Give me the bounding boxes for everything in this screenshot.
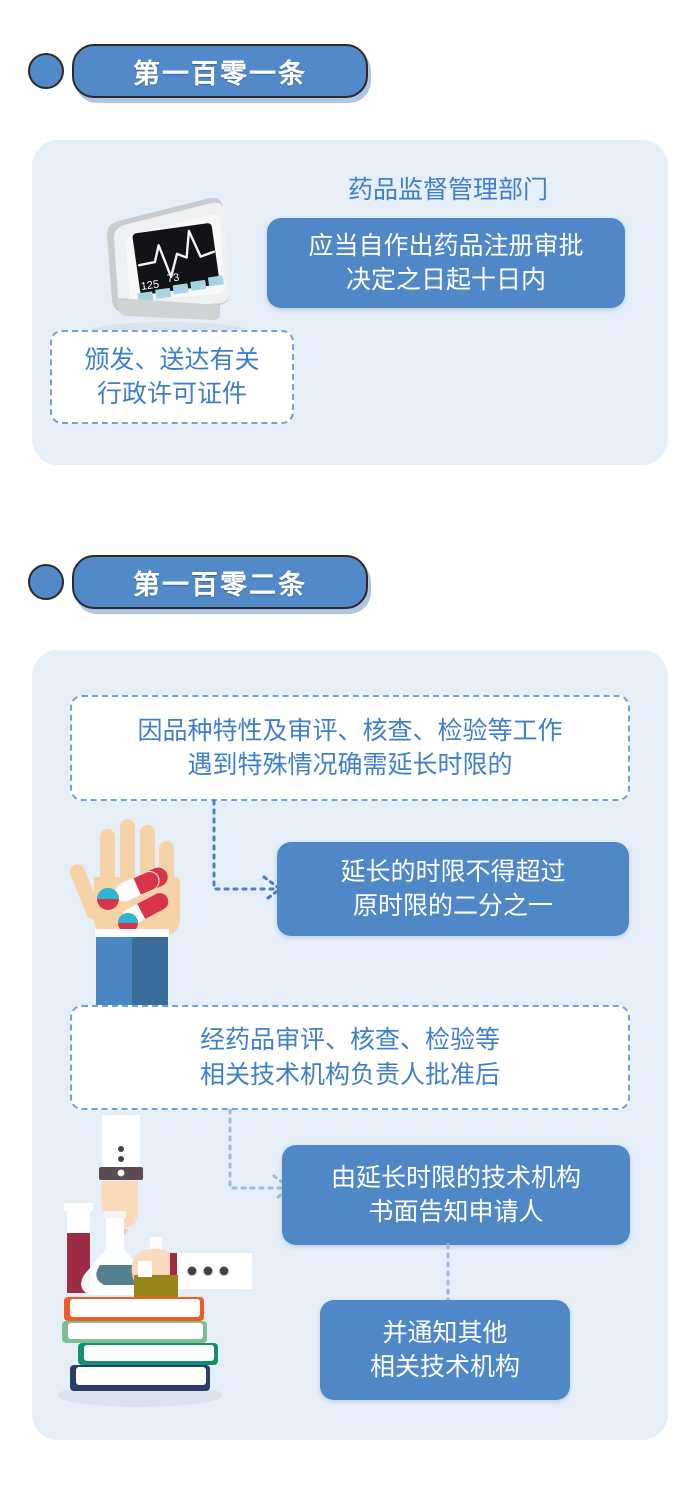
subject-label-article-101: 药品监督管理部门	[288, 170, 608, 206]
panel-article-101: 125 73 药品监督管理部门 应当自作出药品注册审批 决定之日起十日内	[32, 140, 668, 465]
heading-plate[interactable]: 第一百零二条	[72, 555, 368, 609]
panel-article-102: 因品种特性及审评、核查、检验等工作 遇到特殊情况确需延长时限的	[32, 650, 668, 1440]
section-heading-article-101: 第一百零一条	[28, 44, 368, 98]
statement-box-filled-102-b[interactable]: 由延长时限的技术机构 书面告知申请人	[282, 1145, 630, 1245]
statement-box-filled-101[interactable]: 应当自作出药品注册审批 决定之日起十日内	[267, 218, 625, 308]
statement-box-filled-102-c[interactable]: 并通知其他 相关技术机构	[320, 1300, 570, 1400]
bullet-circle-icon	[28, 53, 64, 89]
statement-box-filled-102-a[interactable]: 延长的时限不得超过 原时限的二分之一	[277, 842, 629, 936]
infographic-page: 第一百零一条 125 73	[0, 0, 700, 1488]
connector-vertical-1	[443, 1245, 453, 1303]
vital-signs-monitor-icon: 125 73	[74, 188, 264, 343]
statement-box-dashed-102-b[interactable]: 经药品审评、核查、检验等 相关技术机构负责人批准后	[70, 1005, 630, 1110]
heading-plate[interactable]: 第一百零一条	[72, 44, 368, 98]
bullet-circle-icon	[28, 564, 64, 600]
statement-box-dashed-102-a[interactable]: 因品种特性及审评、核查、检验等工作 遇到特殊情况确需延长时限的	[70, 695, 630, 801]
statement-box-dashed-101[interactable]: 颁发、送达有关 行政许可证件	[50, 330, 294, 424]
lab-research-books-icon	[42, 1115, 272, 1415]
hand-with-pills-icon	[64, 815, 209, 1010]
section-heading-article-102: 第一百零二条	[28, 555, 368, 609]
monitor-diastolic-value: 73	[166, 272, 180, 286]
heading-label: 第一百零一条	[133, 52, 307, 91]
heading-label: 第一百零二条	[133, 563, 307, 602]
